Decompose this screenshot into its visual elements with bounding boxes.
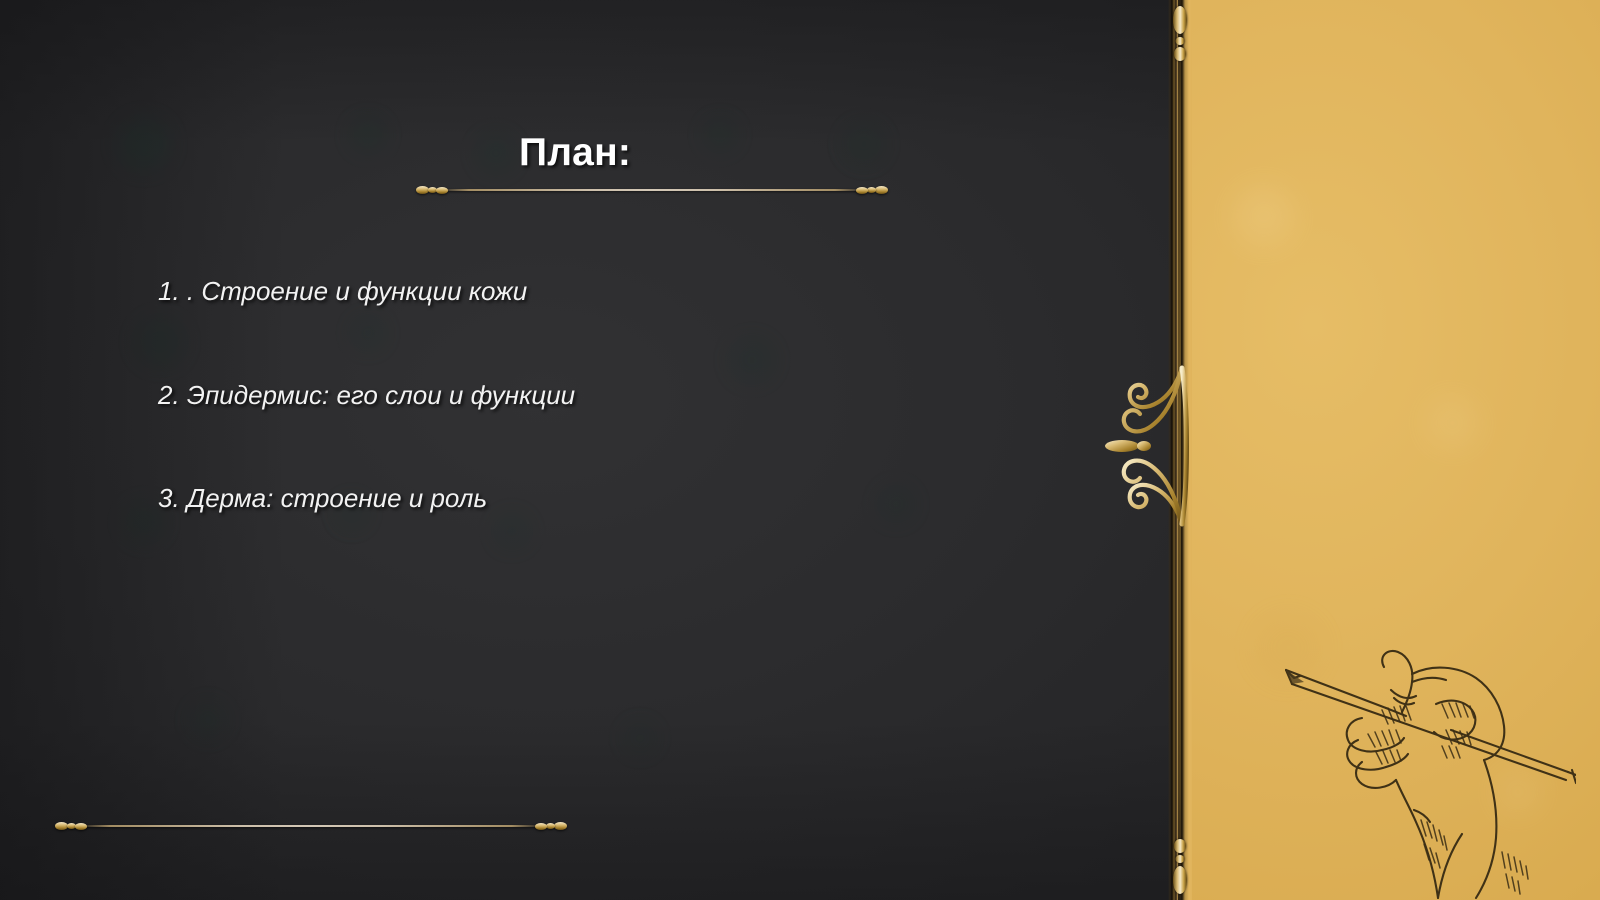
plan-list: 1. . Строение и функции кожи 2. Эпидерми… — [158, 275, 918, 586]
hand-pencil-icon — [1236, 612, 1576, 900]
divider-end-ornament-right — [533, 819, 567, 833]
divider-end-ornament-left — [55, 819, 89, 833]
filigree-flourish-ornament — [1096, 362, 1200, 530]
footer-ornamental-divider — [55, 818, 567, 834]
vertical-finial-ornament-top — [1171, 4, 1188, 70]
filigree-flourish-icon — [1096, 362, 1200, 530]
divider-end-ornament-left — [416, 183, 450, 197]
vertical-finial-ornament-bottom — [1171, 830, 1188, 896]
plan-list-item: 2. Эпидермис: его слои и функции — [158, 379, 918, 412]
plan-list-item: 3. Дерма: строение и роль — [158, 482, 918, 515]
hand-holding-pencil-sketch — [1236, 612, 1576, 900]
divider-bar — [444, 189, 860, 191]
title-ornamental-divider — [416, 182, 888, 198]
divider-bar — [83, 825, 539, 827]
presentation-slide: План: 1. . Строение и функции кожи 2. Эп… — [0, 0, 1600, 900]
plan-list-item: 1. . Строение и функции кожи — [158, 275, 918, 308]
slide-title: План: — [0, 131, 1150, 175]
divider-end-ornament-right — [854, 183, 888, 197]
